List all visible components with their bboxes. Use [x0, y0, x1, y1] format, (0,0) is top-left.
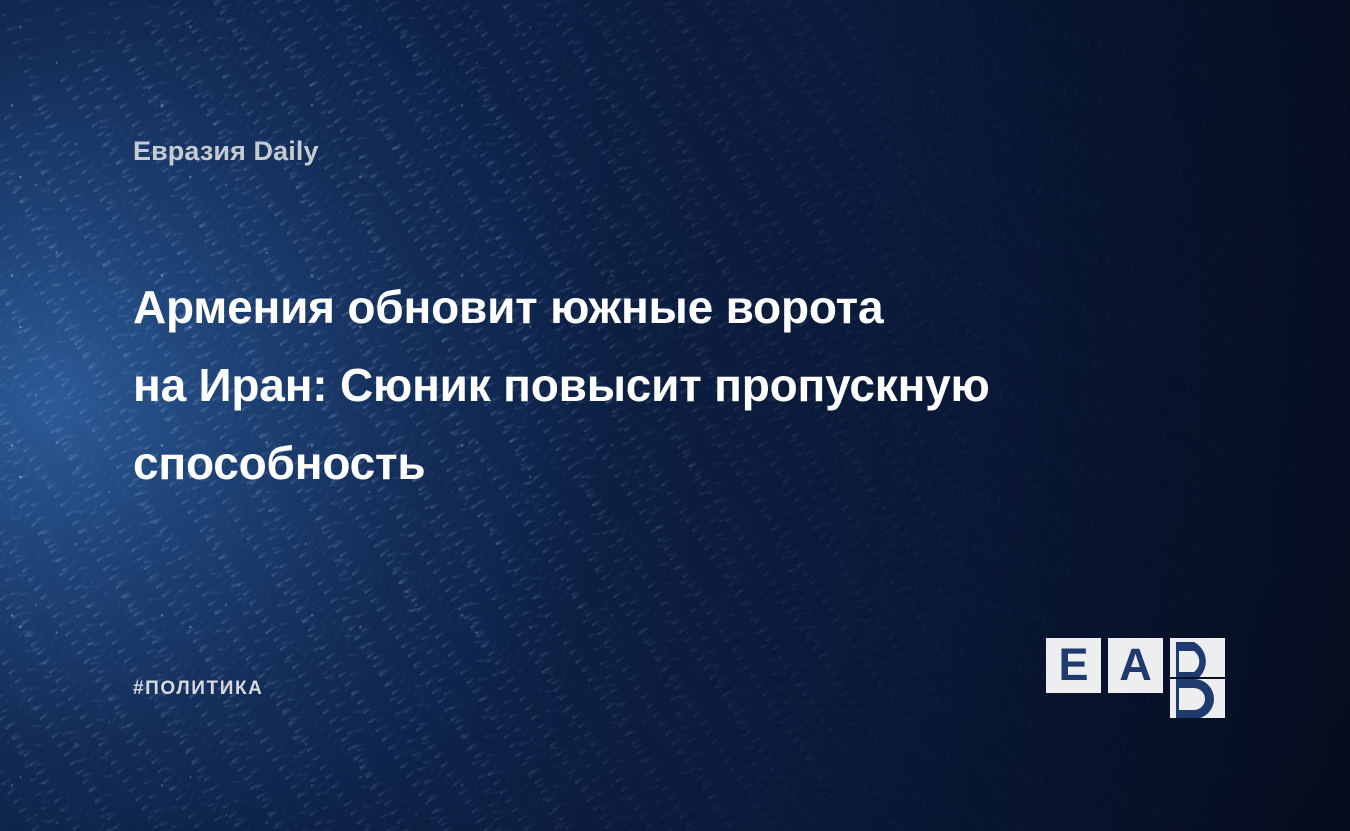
card-content: Евразия Daily Армения обновит южные воро…	[0, 0, 1350, 831]
page-title: Армения обновит южные ворота на Иран: Сю…	[133, 268, 1163, 502]
logo-tile-d-stack	[1170, 638, 1225, 718]
headline-line-2: на Иран: Сюник повысит пропускную	[133, 346, 1163, 424]
brand-title: Евразия Daily	[133, 136, 319, 167]
logo-tile-e: E	[1046, 638, 1101, 693]
logo-letter-e: E	[1058, 642, 1088, 687]
news-card: Евразия Daily Армения обновит южные воро…	[0, 0, 1350, 831]
eadaily-logo[interactable]: E A	[1046, 638, 1225, 718]
logo-d-lower-icon	[1170, 679, 1225, 718]
logo-d-upper-icon	[1170, 638, 1225, 677]
logo-letter-a: A	[1119, 642, 1152, 687]
headline-line-1: Армения обновит южные ворота	[133, 268, 1163, 346]
headline-line-3: способность	[133, 424, 1163, 502]
logo-tile-a: A	[1108, 638, 1163, 693]
category-tag[interactable]: #ПОЛИТИКА	[133, 678, 264, 700]
